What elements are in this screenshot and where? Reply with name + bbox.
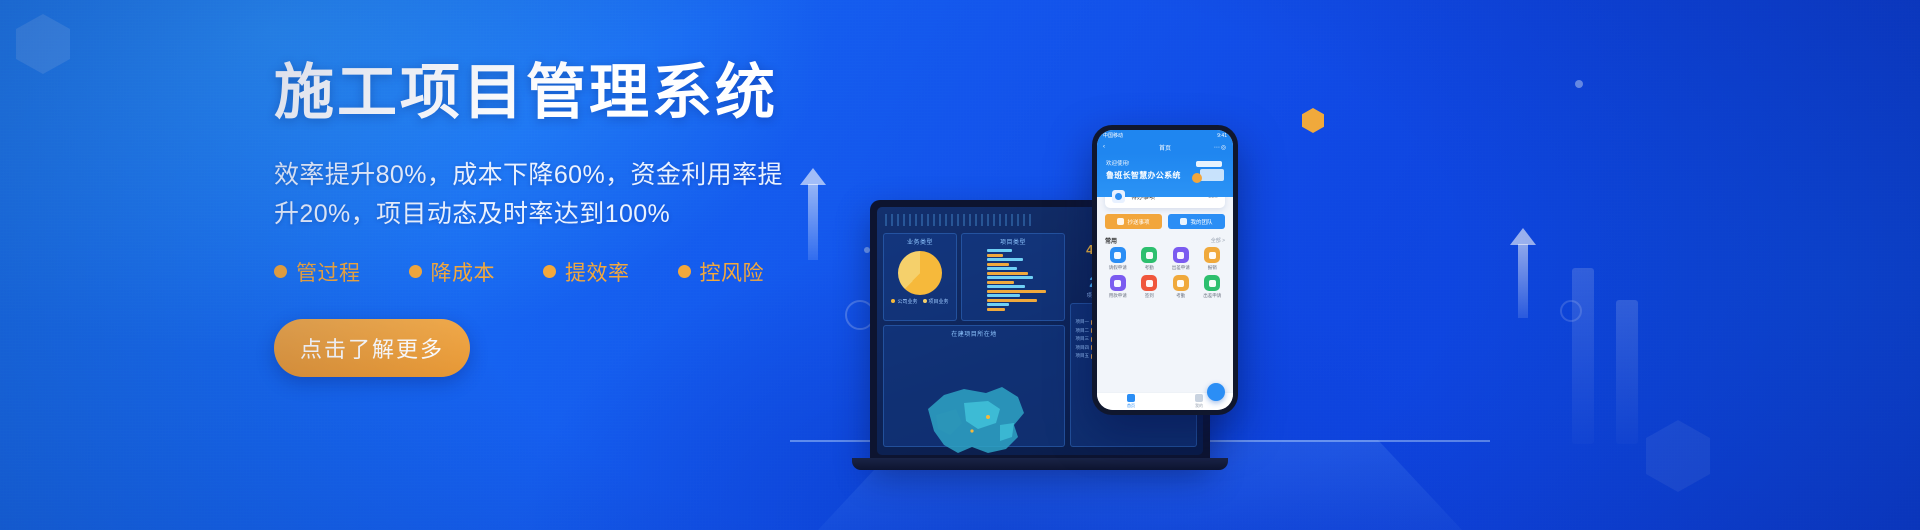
vignette-overlay	[0, 0, 1920, 530]
promo-banner: 施工项目管理系统 效率提升80%，成本下降60%，资金利用率提升20%，项目动态…	[0, 0, 1920, 530]
